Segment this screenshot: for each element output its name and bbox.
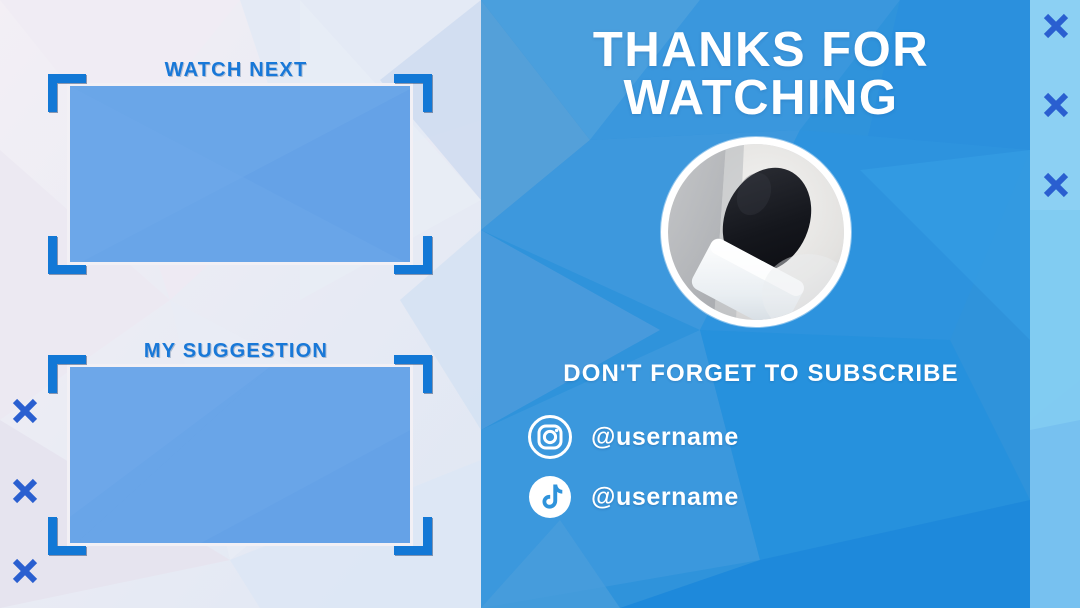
subscribe-callout: DON'T FORGET TO SUBSCRIBE bbox=[481, 360, 1041, 388]
instagram-icon[interactable] bbox=[527, 414, 573, 460]
tiktok-handle: @username bbox=[591, 483, 739, 512]
end-screen-canvas: WATCH NEXT MY SUGGESTION bbox=[0, 0, 1080, 608]
my-suggestion-label: MY SUGGESTION bbox=[48, 340, 424, 363]
microphone-photo bbox=[668, 144, 844, 320]
close-x-icon[interactable] bbox=[1041, 170, 1071, 200]
bracket-bottom-right-icon bbox=[394, 236, 432, 274]
social-row-tiktok[interactable]: @username bbox=[527, 474, 739, 520]
bracket-top-left-icon bbox=[48, 74, 86, 112]
bracket-top-right-icon bbox=[394, 355, 432, 393]
instagram-handle: @username bbox=[591, 423, 739, 452]
bracket-top-right-icon bbox=[394, 74, 432, 112]
microphone-photo-art bbox=[668, 144, 844, 320]
watch-next-slot[interactable]: WATCH NEXT bbox=[48, 60, 424, 278]
bracket-bottom-left-icon bbox=[48, 517, 86, 555]
social-row-instagram[interactable]: @username bbox=[527, 414, 739, 460]
close-x-icon[interactable] bbox=[1041, 90, 1071, 120]
thumbnail-placeholder-art bbox=[70, 367, 413, 546]
page-title: THANKS FOR WATCHING bbox=[481, 26, 1041, 122]
bracket-top-left-icon bbox=[48, 355, 86, 393]
thumbnail-placeholder-art bbox=[70, 86, 413, 265]
close-x-icon[interactable] bbox=[10, 476, 40, 506]
close-x-icon[interactable] bbox=[10, 396, 40, 426]
my-suggestion-thumbnail[interactable] bbox=[67, 364, 413, 546]
watch-next-label: WATCH NEXT bbox=[48, 59, 424, 82]
my-suggestion-slot[interactable]: MY SUGGESTION bbox=[48, 341, 424, 559]
headline-line-1: THANKS FOR bbox=[593, 23, 929, 77]
bracket-bottom-left-icon bbox=[48, 236, 86, 274]
bracket-bottom-right-icon bbox=[394, 517, 432, 555]
close-x-icon[interactable] bbox=[10, 556, 40, 586]
headline-line-2: WATCHING bbox=[481, 74, 1041, 122]
close-x-icon[interactable] bbox=[1041, 11, 1071, 41]
watch-next-thumbnail[interactable] bbox=[67, 83, 413, 265]
tiktok-icon[interactable] bbox=[527, 474, 573, 520]
social-links: @username @username bbox=[527, 414, 739, 534]
avatar[interactable] bbox=[661, 137, 851, 327]
